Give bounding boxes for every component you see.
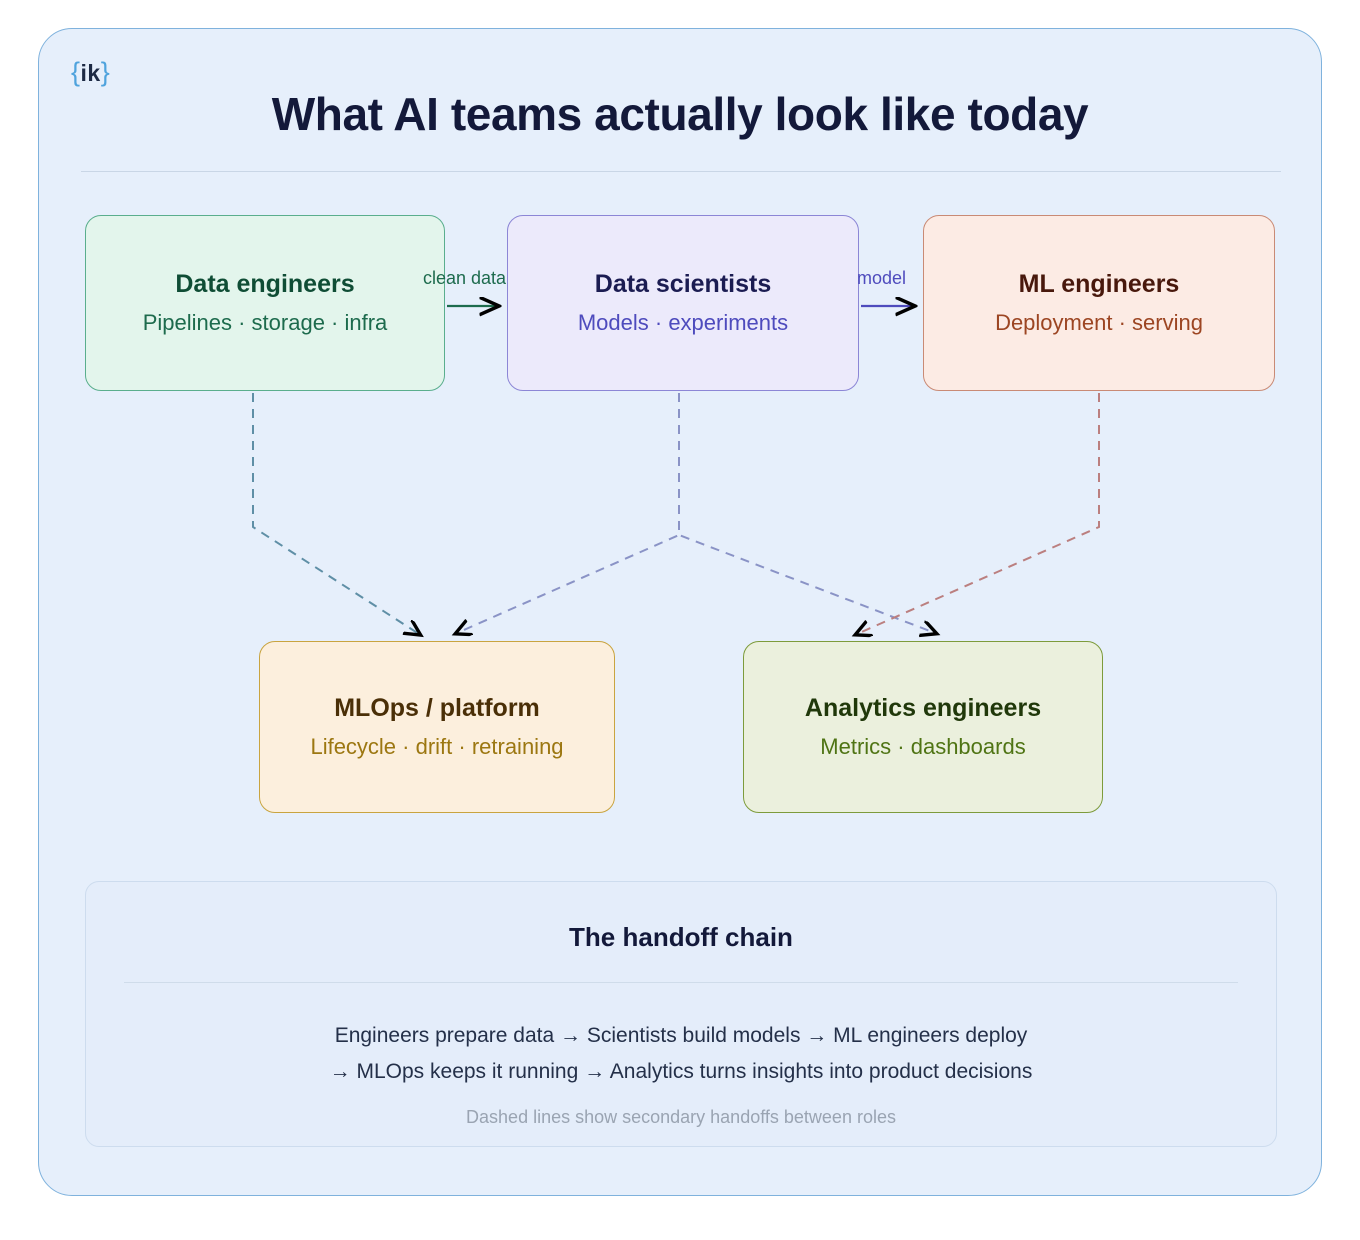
diagram-card: {ik} What AI teams actually look like to… [38,28,1322,1196]
diagram-page: {ik} What AI teams actually look like to… [0,0,1360,1240]
panel-divider [124,982,1238,983]
node-subtitle: Deployment · serving [995,310,1203,336]
node-data-scientists[interactable]: Data scientists Models · experiments [507,215,859,391]
handoff-chain-panel: The handoff chain Engineers prepare data… [85,881,1277,1147]
edge-ds-to-an [679,393,935,633]
node-subtitle: Models · experiments [578,310,788,336]
node-subtitle: Pipelines · storage · infra [143,310,388,336]
panel-title: The handoff chain [86,922,1276,953]
edge-label-clean-data: clean data [423,269,506,287]
handoff-line-1: Engineers prepare data → Scientists buil… [86,1023,1276,1048]
node-title: MLOps / platform [334,694,540,723]
node-title: Analytics engineers [805,694,1041,723]
node-data-engineers[interactable]: Data engineers Pipelines · storage · inf… [85,215,445,391]
panel-note: Dashed lines show secondary handoffs bet… [86,1107,1276,1128]
edge-de-to-ops [253,393,419,634]
handoff-line-2: → MLOps keeps it running → Analytics tur… [86,1059,1276,1084]
node-subtitle: Metrics · dashboards [820,734,1025,760]
edge-label-model: model [857,269,906,287]
edge-ml-to-an [857,393,1099,634]
edge-ds-to-ops [457,393,679,633]
node-ml-engineers[interactable]: ML engineers Deployment · serving [923,215,1275,391]
node-title: Data engineers [175,270,354,299]
node-subtitle: Lifecycle · drift · retraining [310,734,563,760]
node-analytics-engineers[interactable]: Analytics engineers Metrics · dashboards [743,641,1103,813]
node-title: Data scientists [595,270,771,299]
node-title: ML engineers [1019,270,1180,299]
node-mlops-platform[interactable]: MLOps / platform Lifecycle · drift · ret… [259,641,615,813]
